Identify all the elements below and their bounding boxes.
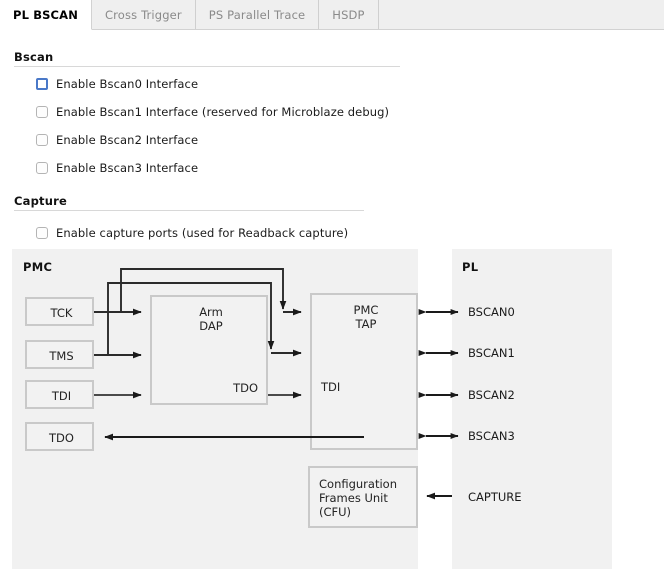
- tab-ps-parallel-trace[interactable]: PS Parallel Trace: [196, 0, 320, 29]
- enable-bscan3-label: Enable Bscan3 Interface: [56, 161, 198, 175]
- tab-label: PS Parallel Trace: [209, 8, 306, 22]
- bscan-section-divider: [14, 66, 400, 67]
- tab-label: Cross Trigger: [105, 8, 182, 22]
- checkbox-row-enable-bscan1[interactable]: Enable Bscan1 Interface (reserved for Mi…: [36, 105, 389, 119]
- enable-bscan1-checkbox[interactable]: [36, 106, 48, 118]
- tab-pl-bscan[interactable]: PL BSCAN: [0, 0, 92, 30]
- enable-capture-ports-label: Enable capture ports (used for Readback …: [56, 226, 348, 240]
- capture-section-title: Capture: [14, 194, 67, 208]
- enable-capture-ports-checkbox[interactable]: [36, 227, 48, 239]
- tab-bar-filler: [379, 0, 664, 29]
- enable-bscan0-label: Enable Bscan0 Interface: [56, 77, 198, 91]
- enable-bscan2-checkbox[interactable]: [36, 134, 48, 146]
- tab-hsdp[interactable]: HSDP: [319, 0, 378, 29]
- bscan-architecture-diagram: PMC PL TCK TMS TDI TDO Arm DAP TDO PMC T…: [0, 245, 664, 577]
- bscan-section-title: Bscan: [14, 50, 53, 64]
- tab-label: HSDP: [332, 8, 364, 22]
- capture-section-divider: [14, 210, 364, 211]
- tab-label: PL BSCAN: [13, 8, 78, 22]
- enable-bscan0-checkbox[interactable]: [36, 78, 48, 90]
- tab-bar: PL BSCAN Cross Trigger PS Parallel Trace…: [0, 0, 664, 30]
- checkbox-row-enable-capture-ports[interactable]: Enable capture ports (used for Readback …: [36, 226, 348, 240]
- enable-bscan2-label: Enable Bscan2 Interface: [56, 133, 198, 147]
- checkbox-row-enable-bscan3[interactable]: Enable Bscan3 Interface: [36, 161, 198, 175]
- checkbox-row-enable-bscan2[interactable]: Enable Bscan2 Interface: [36, 133, 198, 147]
- diagram-wires: [0, 245, 664, 577]
- checkbox-row-enable-bscan0[interactable]: Enable Bscan0 Interface: [36, 77, 198, 91]
- enable-bscan1-label: Enable Bscan1 Interface (reserved for Mi…: [56, 105, 389, 119]
- tab-cross-trigger[interactable]: Cross Trigger: [92, 0, 196, 29]
- enable-bscan3-checkbox[interactable]: [36, 162, 48, 174]
